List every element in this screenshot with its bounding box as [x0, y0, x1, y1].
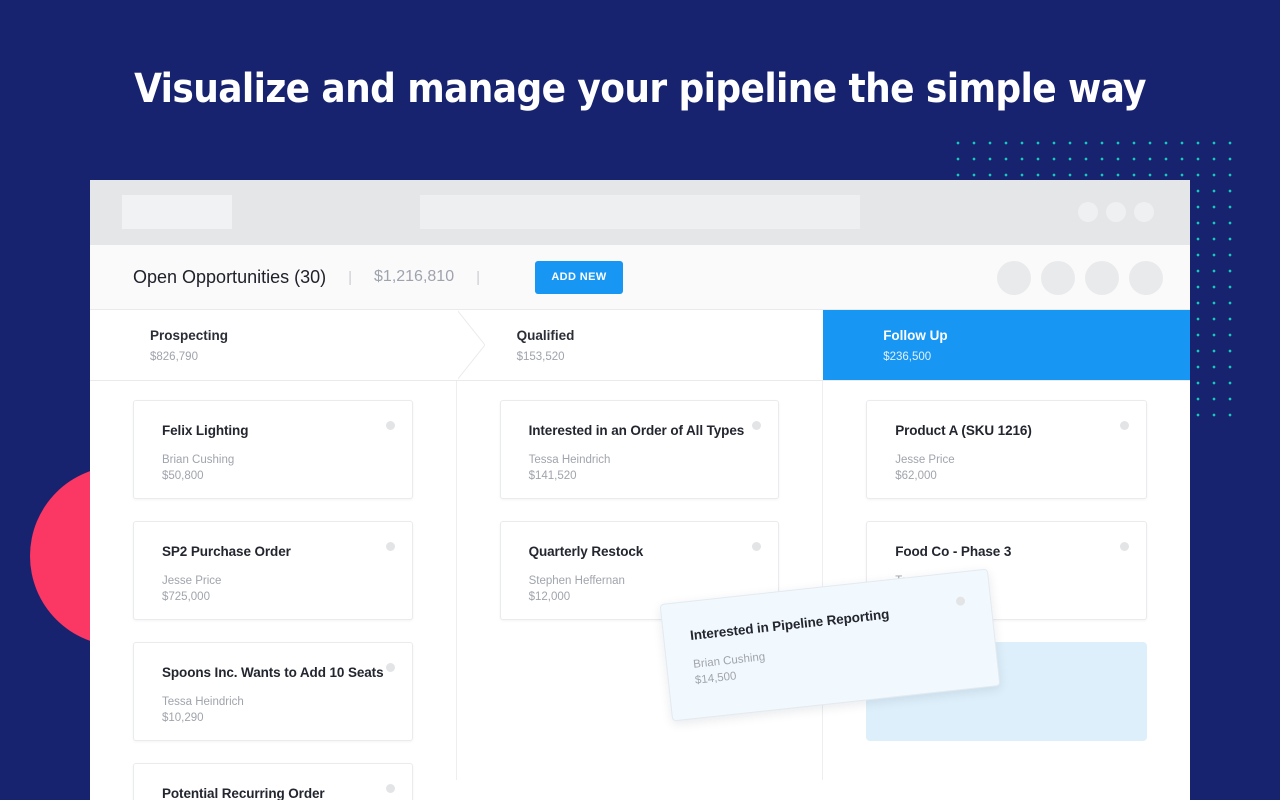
browser-tab-placeholder[interactable]: [122, 195, 232, 229]
card-status-dot-icon[interactable]: [386, 421, 395, 430]
card-amount: $50,800: [162, 470, 412, 482]
app-toolbar: Open Opportunities (30) | $1,216,810 | A…: [90, 245, 1190, 310]
stage-amount: $236,500: [883, 351, 1190, 363]
stage-name: Follow Up: [883, 328, 1190, 343]
card-title: Felix Lighting: [162, 423, 412, 438]
page-headline: Visualize and manage your pipeline the s…: [0, 66, 1280, 112]
card-status-dot-icon[interactable]: [386, 663, 395, 672]
card-title: Spoons Inc. Wants to Add 10 Seats: [162, 665, 412, 680]
card-title: Food Co - Phase 3: [895, 544, 1146, 559]
card-amount: $725,000: [162, 591, 412, 603]
browser-control-dot[interactable]: [1078, 202, 1098, 222]
card-title: Product A (SKU 1216): [895, 423, 1146, 438]
avatar[interactable]: [1041, 261, 1075, 295]
board-column-qualified: Interested in an Order of All Types Tess…: [457, 381, 824, 780]
card-amount: $141,520: [529, 470, 779, 482]
opportunity-card[interactable]: Interested in an Order of All Types Tess…: [500, 400, 780, 499]
toolbar-avatar-group: [997, 245, 1163, 310]
card-title: Interested in an Order of All Types: [529, 423, 779, 438]
avatar[interactable]: [1129, 261, 1163, 295]
stage-header-qualified[interactable]: Qualified $153,520: [457, 310, 824, 380]
browser-control-dot[interactable]: [1134, 202, 1154, 222]
opportunity-card[interactable]: SP2 Purchase Order Jesse Price $725,000: [133, 521, 413, 620]
add-new-button[interactable]: ADD NEW: [535, 261, 623, 294]
browser-urlbar-placeholder[interactable]: [420, 195, 860, 229]
card-title: SP2 Purchase Order: [162, 544, 412, 559]
stage-name: Prospecting: [150, 328, 457, 343]
pipeline-stage-row: Prospecting $826,790 Qualified $153,520 …: [90, 310, 1190, 381]
opportunity-card[interactable]: Felix Lighting Brian Cushing $50,800: [133, 400, 413, 499]
card-status-dot-icon[interactable]: [386, 542, 395, 551]
card-status-dot-icon[interactable]: [1120, 542, 1129, 551]
pipeline-board: Felix Lighting Brian Cushing $50,800 SP2…: [90, 381, 1190, 780]
stage-name: Qualified: [517, 328, 824, 343]
toolbar-separator: |: [476, 269, 480, 286]
card-title: Potential Recurring Order: [162, 786, 412, 800]
card-amount: $62,000: [895, 470, 1146, 482]
card-status-dot-icon[interactable]: [386, 784, 395, 793]
opportunity-card[interactable]: Potential Recurring Order: [133, 763, 413, 800]
app-window: Open Opportunities (30) | $1,216,810 | A…: [90, 180, 1190, 800]
card-owner: Jesse Price: [162, 575, 412, 587]
board-total-amount: $1,216,810: [374, 268, 454, 286]
avatar[interactable]: [1085, 261, 1119, 295]
stage-amount: $153,520: [517, 351, 824, 363]
card-amount: $10,290: [162, 712, 412, 724]
toolbar-separator: |: [348, 269, 352, 286]
stage-amount: $826,790: [150, 351, 457, 363]
opportunity-card[interactable]: Spoons Inc. Wants to Add 10 Seats Tessa …: [133, 642, 413, 741]
board-column-prospecting: Felix Lighting Brian Cushing $50,800 SP2…: [90, 381, 457, 780]
card-status-dot-icon[interactable]: [1120, 421, 1129, 430]
stage-chevron-icon: [457, 310, 485, 380]
opportunity-card[interactable]: Product A (SKU 1216) Jesse Price $62,000: [866, 400, 1147, 499]
card-owner: Tessa Heindrich: [162, 696, 412, 708]
card-title: Quarterly Restock: [529, 544, 779, 559]
browser-control-dot[interactable]: [1106, 202, 1126, 222]
stage-header-prospecting[interactable]: Prospecting $826,790: [90, 310, 457, 380]
card-owner: Brian Cushing: [162, 454, 412, 466]
card-owner: Stephen Heffernan: [529, 575, 779, 587]
browser-chrome: [90, 180, 1190, 245]
card-owner: Tessa Heindrich: [529, 454, 779, 466]
avatar[interactable]: [997, 261, 1031, 295]
stage-header-follow-up[interactable]: Follow Up $236,500: [823, 310, 1190, 380]
board-title: Open Opportunities (30): [133, 267, 326, 288]
card-owner: Jesse Price: [895, 454, 1146, 466]
